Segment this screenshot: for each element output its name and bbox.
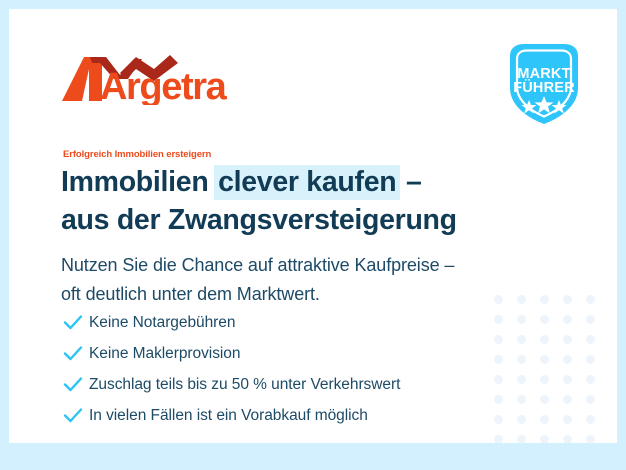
list-item-label: Zuschlag teils bis zu 50 % unter Verkehr…: [89, 376, 400, 394]
dot: [540, 335, 549, 344]
list-item: In vielen Fällen ist ein Vorabkauf mögli…: [63, 400, 523, 431]
check-icon: [63, 376, 89, 393]
banner-card: Argetra Erfolgreich Immobilien ersteiger…: [9, 9, 617, 443]
dot: [540, 435, 549, 443]
headline: Immobilien clever kaufen – aus der Zwang…: [61, 163, 561, 239]
dot: [563, 355, 572, 364]
dot: [540, 415, 549, 424]
check-icon: [63, 407, 89, 424]
dot: [563, 415, 572, 424]
dot: [563, 435, 572, 443]
marktfuehrer-badge: MARKT FÜHRER: [498, 40, 590, 128]
list-item-label: Keine Maklerprovision: [89, 345, 240, 363]
headline-part2: –: [398, 166, 421, 198]
dot: [540, 315, 549, 324]
dot: [540, 375, 549, 384]
check-icon: [63, 345, 89, 362]
check-icon: [63, 314, 89, 331]
logo-tagline: Erfolgreich Immobilien ersteigern: [63, 149, 211, 160]
subheading-line2: oft deutlich unter dem Marktwert.: [61, 280, 581, 309]
dot: [494, 435, 503, 443]
svg-text:Argetra: Argetra: [100, 66, 228, 105]
headline-highlight: clever kaufen: [214, 165, 400, 200]
list-item: Zuschlag teils bis zu 50 % unter Verkehr…: [63, 369, 523, 400]
dot: [586, 355, 595, 364]
dot: [563, 395, 572, 404]
dot: [540, 395, 549, 404]
dot: [563, 315, 572, 324]
dot: [586, 315, 595, 324]
dot: [563, 335, 572, 344]
dot: [586, 395, 595, 404]
argetra-logo: Argetra Erfolgreich Immobilien ersteiger…: [62, 53, 252, 119]
headline-line2: aus der Zwangsversteigerung: [61, 201, 561, 239]
svg-text:FÜHRER: FÜHRER: [513, 79, 575, 96]
list-item-label: Keine Notargebühren: [89, 314, 235, 332]
dot: [586, 335, 595, 344]
argetra-logo-mark: Argetra: [62, 53, 252, 105]
dot: [563, 375, 572, 384]
dot: [517, 435, 526, 443]
list-item: Keine Notargebühren: [63, 307, 523, 338]
subheading: Nutzen Sie die Chance auf attraktive Kau…: [61, 251, 581, 309]
subheading-line1: Nutzen Sie die Chance auf attraktive Kau…: [61, 251, 581, 280]
list-item: Keine Maklerprovision: [63, 338, 523, 369]
dot: [586, 435, 595, 443]
dot: [586, 295, 595, 304]
promo-banner: Argetra Erfolgreich Immobilien ersteiger…: [0, 0, 626, 470]
headline-part1: Immobilien: [61, 166, 216, 198]
list-item-label: In vielen Fällen ist ein Vorabkauf mögli…: [89, 407, 368, 425]
dot: [586, 375, 595, 384]
dot: [586, 415, 595, 424]
dot: [540, 355, 549, 364]
benefits-checklist: Keine Notargebühren Keine Maklerprovisio…: [63, 307, 523, 431]
